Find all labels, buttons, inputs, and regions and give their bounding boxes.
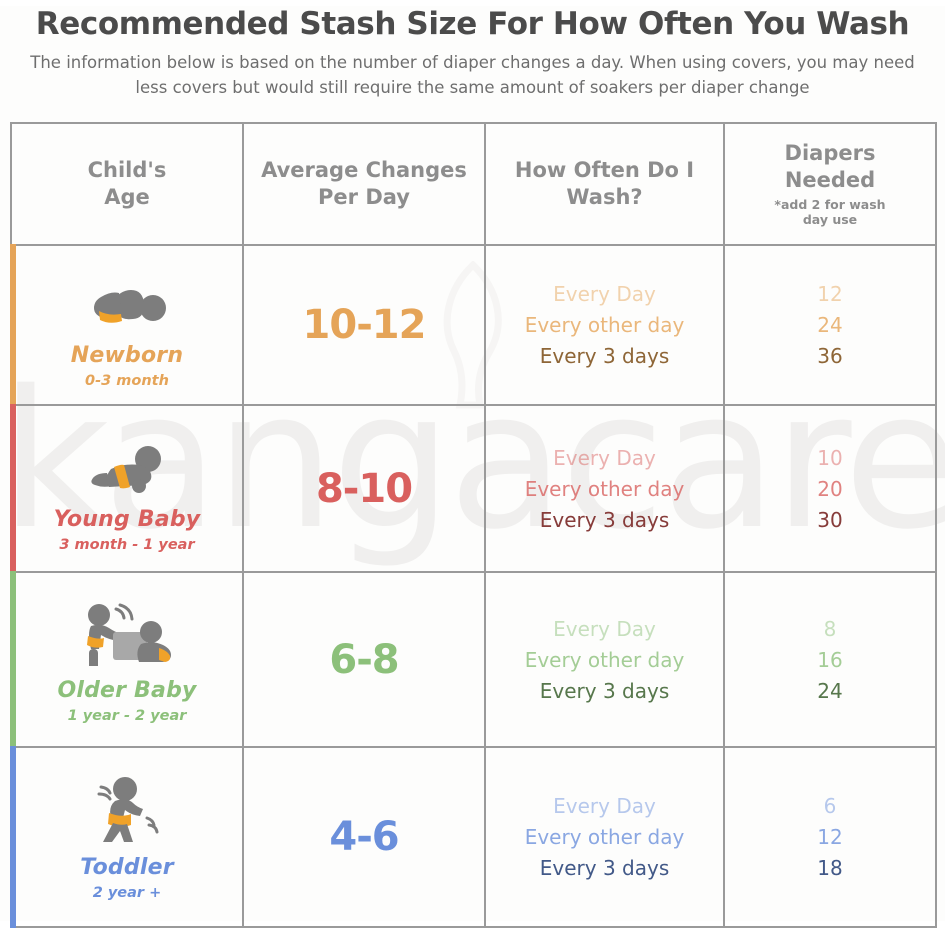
age-cell-young-baby: Young Baby 3 month - 1 year (11, 405, 243, 572)
diapers-needed-value: 6 (824, 795, 837, 817)
table-row: Newborn 0-3 month 10-12 Every Day Every … (11, 245, 936, 405)
row-accent-bar (10, 571, 16, 748)
two-babies-playing-icon (75, 600, 179, 666)
diapers-needed-cell-young-baby: 10 20 30 (724, 405, 936, 572)
wash-frequency-cell-newborn: Every Day Every other day Every 3 days (485, 245, 724, 405)
wash-frequency-cell-toddler: Every Day Every other day Every 3 days (485, 747, 724, 927)
changes-cell-toddler: 4-6 (243, 747, 485, 927)
header-cell-diapers-needed: DiapersNeeded *add 2 for washday use (724, 123, 936, 245)
changes-cell-older-baby: 6-8 (243, 572, 485, 747)
changes-per-day-value: 10-12 (244, 302, 484, 348)
diapers-needed-cell-toddler: 6 12 18 (724, 747, 936, 927)
header-label-child-age: Child'sAge (12, 157, 242, 211)
diapers-needed-value: 36 (817, 345, 842, 367)
wash-frequency-label: Every Day (553, 795, 656, 817)
age-label: Older Baby (57, 678, 196, 703)
changes-per-day-value: 4-6 (244, 814, 484, 860)
diapers-needed-value: 8 (824, 618, 837, 640)
page-subtitle: The information below is based on the nu… (23, 51, 923, 101)
wash-frequency-label: Every Day (553, 447, 656, 469)
diapers-needed-value: 24 (817, 314, 842, 336)
wash-frequency-label: Every 3 days (540, 345, 669, 367)
wash-frequency-label: Every Day (553, 283, 656, 305)
diapers-needed-value: 20 (817, 478, 842, 500)
stash-size-table-wrapper: Child'sAge Average ChangesPer Day How Of… (10, 122, 935, 914)
wash-frequency-label: Every Day (553, 618, 656, 640)
changes-cell-newborn: 10-12 (243, 245, 485, 405)
age-range-label: 2 year + (93, 885, 162, 901)
row-accent-bar (10, 746, 16, 928)
wash-frequency-label: Every other day (525, 649, 685, 671)
swaddled-baby-icon (81, 265, 173, 331)
age-cell-toddler: Toddler 2 year + (11, 747, 243, 927)
diapers-needed-value: 12 (817, 283, 842, 305)
header-label-average-changes: Average ChangesPer Day (244, 157, 484, 211)
infographic-page: kangacare Recommended Stash Size For How… (0, 6, 945, 921)
age-cell-older-baby: Older Baby 1 year - 2 year (11, 572, 243, 747)
age-label: Toddler (80, 855, 174, 880)
diapers-needed-cell-newborn: 12 24 36 (724, 245, 936, 405)
header-note-wash-day: *add 2 for washday use (725, 197, 935, 228)
header-cell-how-often-wash: How Often Do IWash? (485, 123, 724, 245)
wash-frequency-label: Every other day (525, 826, 685, 848)
wash-frequency-label: Every 3 days (540, 680, 669, 702)
age-label: Newborn (71, 343, 183, 368)
wash-frequency-label: Every other day (525, 314, 685, 336)
page-title: Recommended Stash Size For How Often You… (0, 6, 945, 42)
wash-frequency-cell-older-baby: Every Day Every other day Every 3 days (485, 572, 724, 747)
crawling-baby-icon (81, 429, 173, 495)
diapers-needed-value: 24 (817, 680, 842, 702)
table-header-row: Child'sAge Average ChangesPer Day How Of… (11, 123, 936, 245)
age-range-label: 1 year - 2 year (68, 708, 187, 724)
wash-frequency-label: Every other day (525, 478, 685, 500)
table-row: Older Baby 1 year - 2 year 6-8 Every Day… (11, 572, 936, 747)
wash-frequency-label: Every 3 days (540, 857, 669, 879)
diapers-needed-value: 16 (817, 649, 842, 671)
header-label-diapers-needed: DiapersNeeded (725, 140, 935, 194)
diapers-needed-value: 12 (817, 826, 842, 848)
changes-cell-young-baby: 8-10 (243, 405, 485, 572)
age-range-label: 0-3 month (85, 373, 169, 389)
header-label-how-often-wash: How Often Do IWash? (486, 157, 723, 211)
diapers-needed-value: 10 (817, 447, 842, 469)
changes-per-day-value: 6-8 (244, 637, 484, 683)
wash-frequency-label: Every 3 days (540, 509, 669, 531)
changes-per-day-value: 8-10 (244, 466, 484, 512)
header-cell-average-changes: Average ChangesPer Day (243, 123, 485, 245)
header-cell-child-age: Child'sAge (11, 123, 243, 245)
row-accent-bar (10, 404, 16, 573)
age-label: Young Baby (54, 507, 201, 532)
wash-frequency-cell-young-baby: Every Day Every other day Every 3 days (485, 405, 724, 572)
table-row: Toddler 2 year + 4-6 Every Day Every oth… (11, 747, 936, 927)
walking-toddler-icon (87, 777, 167, 843)
diapers-needed-cell-older-baby: 8 16 24 (724, 572, 936, 747)
diapers-needed-value: 30 (817, 509, 842, 531)
age-cell-newborn: Newborn 0-3 month (11, 245, 243, 405)
diapers-needed-value: 18 (817, 857, 842, 879)
row-accent-bar (10, 244, 16, 406)
table-row: Young Baby 3 month - 1 year 8-10 Every D… (11, 405, 936, 572)
age-range-label: 3 month - 1 year (59, 537, 194, 553)
stash-size-table: Child'sAge Average ChangesPer Day How Of… (10, 122, 937, 928)
